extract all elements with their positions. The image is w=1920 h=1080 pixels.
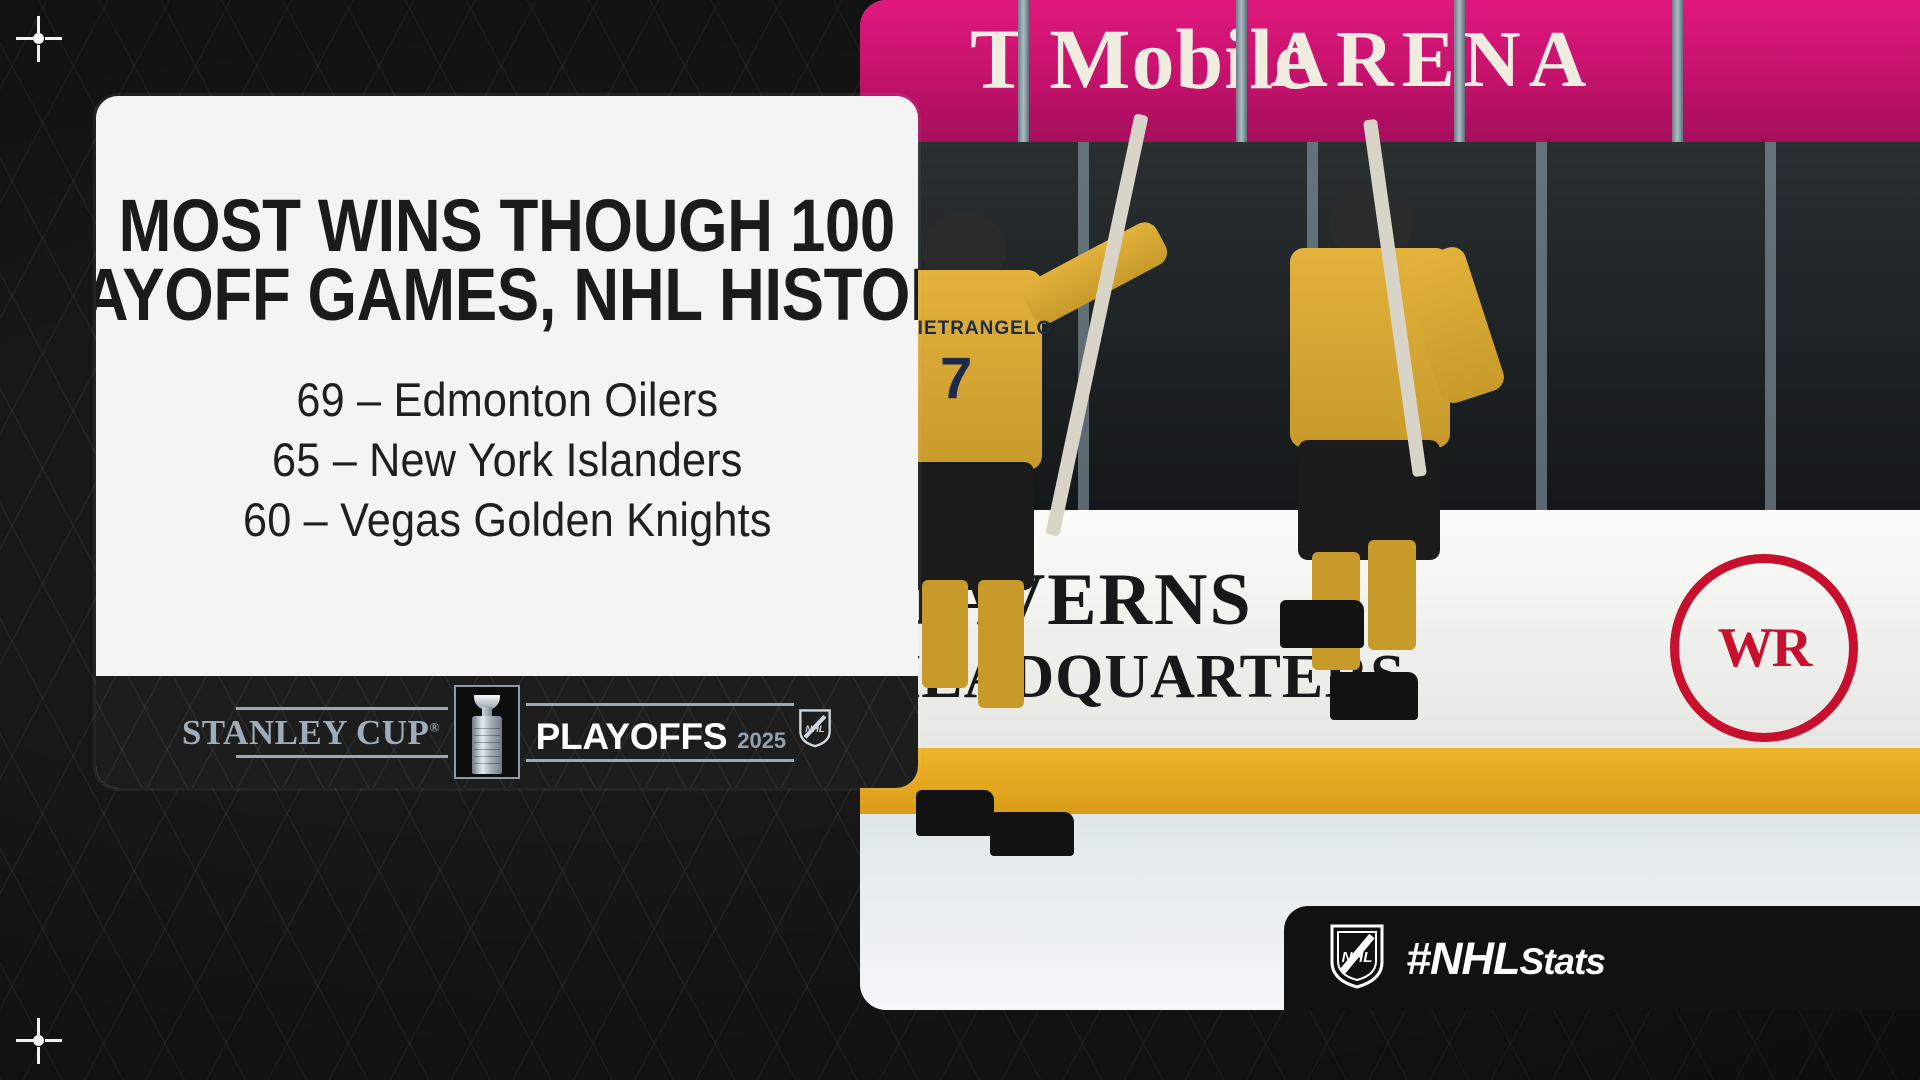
stat-card-body: MOST WINS THOUGH 100 PLAYOFF GAMES, NHL … (96, 96, 918, 676)
list-item: 65 – New York Islanders (243, 430, 772, 490)
player-name-text: PIETRANGELO (904, 318, 1052, 340)
playoffs-year: 2025 (737, 730, 786, 752)
lockup-left: STANLEY CUP® (182, 707, 448, 758)
playoffs-row: PLAYOFFS 2025 NHL (526, 706, 833, 759)
player-number-text: 7 (940, 350, 972, 408)
nhl-shield-icon: NHL (798, 708, 832, 753)
nhl-stats-badge: NHL #NHLStats (1284, 906, 1920, 1010)
rink-sponsor-initials: WR (1718, 616, 1810, 680)
headline-line-2: PLAYOFF GAMES, NHL HISTORY: (96, 261, 918, 330)
arena-banner: T Mobile ARENA (860, 0, 1920, 142)
trophy-shape (465, 693, 509, 777)
stanley-cup-text: STANLEY CUP® (182, 710, 448, 755)
svg-text:NHL: NHL (1342, 949, 1373, 966)
svg-text:NHL: NHL (806, 724, 826, 734)
board-kickplate (860, 748, 1920, 814)
rink-sponsor-logo: WR (1670, 554, 1858, 742)
registration-mark-top-left (16, 16, 62, 62)
registration-mark-bottom-left (16, 1018, 62, 1064)
stat-card: MOST WINS THOUGH 100 PLAYOFF GAMES, NHL … (96, 96, 918, 788)
page-title: MOST WINS THOUGH 100 PLAYOFF GAMES, NHL … (96, 192, 918, 330)
arena-banner-text: ARENA (1270, 20, 1594, 100)
lockup-right: PLAYOFFS 2025 NHL (526, 703, 833, 762)
lockup-rule-bottom-right (526, 759, 794, 762)
stanley-cup-playoffs-lockup: STANLEY CUP® PLAYOFFS 2025 (96, 676, 918, 788)
stat-list: 69 – Edmonton Oilers 65 – New York Islan… (220, 370, 795, 550)
list-item: 60 – Vegas Golden Knights (243, 490, 772, 550)
list-item: 69 – Edmonton Oilers (243, 370, 772, 430)
playoffs-text: PLAYOFFS (536, 718, 728, 755)
stanley-cup-trophy-icon (454, 685, 520, 779)
lockup-rule-bottom (236, 755, 448, 758)
celebration-photo: T Mobile ARENA TAVERNS HEADQUARTERS WR (860, 0, 1920, 1010)
graphic-canvas: T Mobile ARENA TAVERNS HEADQUARTERS WR (0, 0, 1920, 1080)
nhl-stats-hashtag: #NHLStats (1406, 936, 1605, 981)
lockup-inner: STANLEY CUP® PLAYOFFS 2025 (182, 700, 832, 764)
nhl-shield-icon: NHL (1328, 922, 1386, 995)
photo-layers: T Mobile ARENA TAVERNS HEADQUARTERS WR (860, 0, 1920, 1010)
